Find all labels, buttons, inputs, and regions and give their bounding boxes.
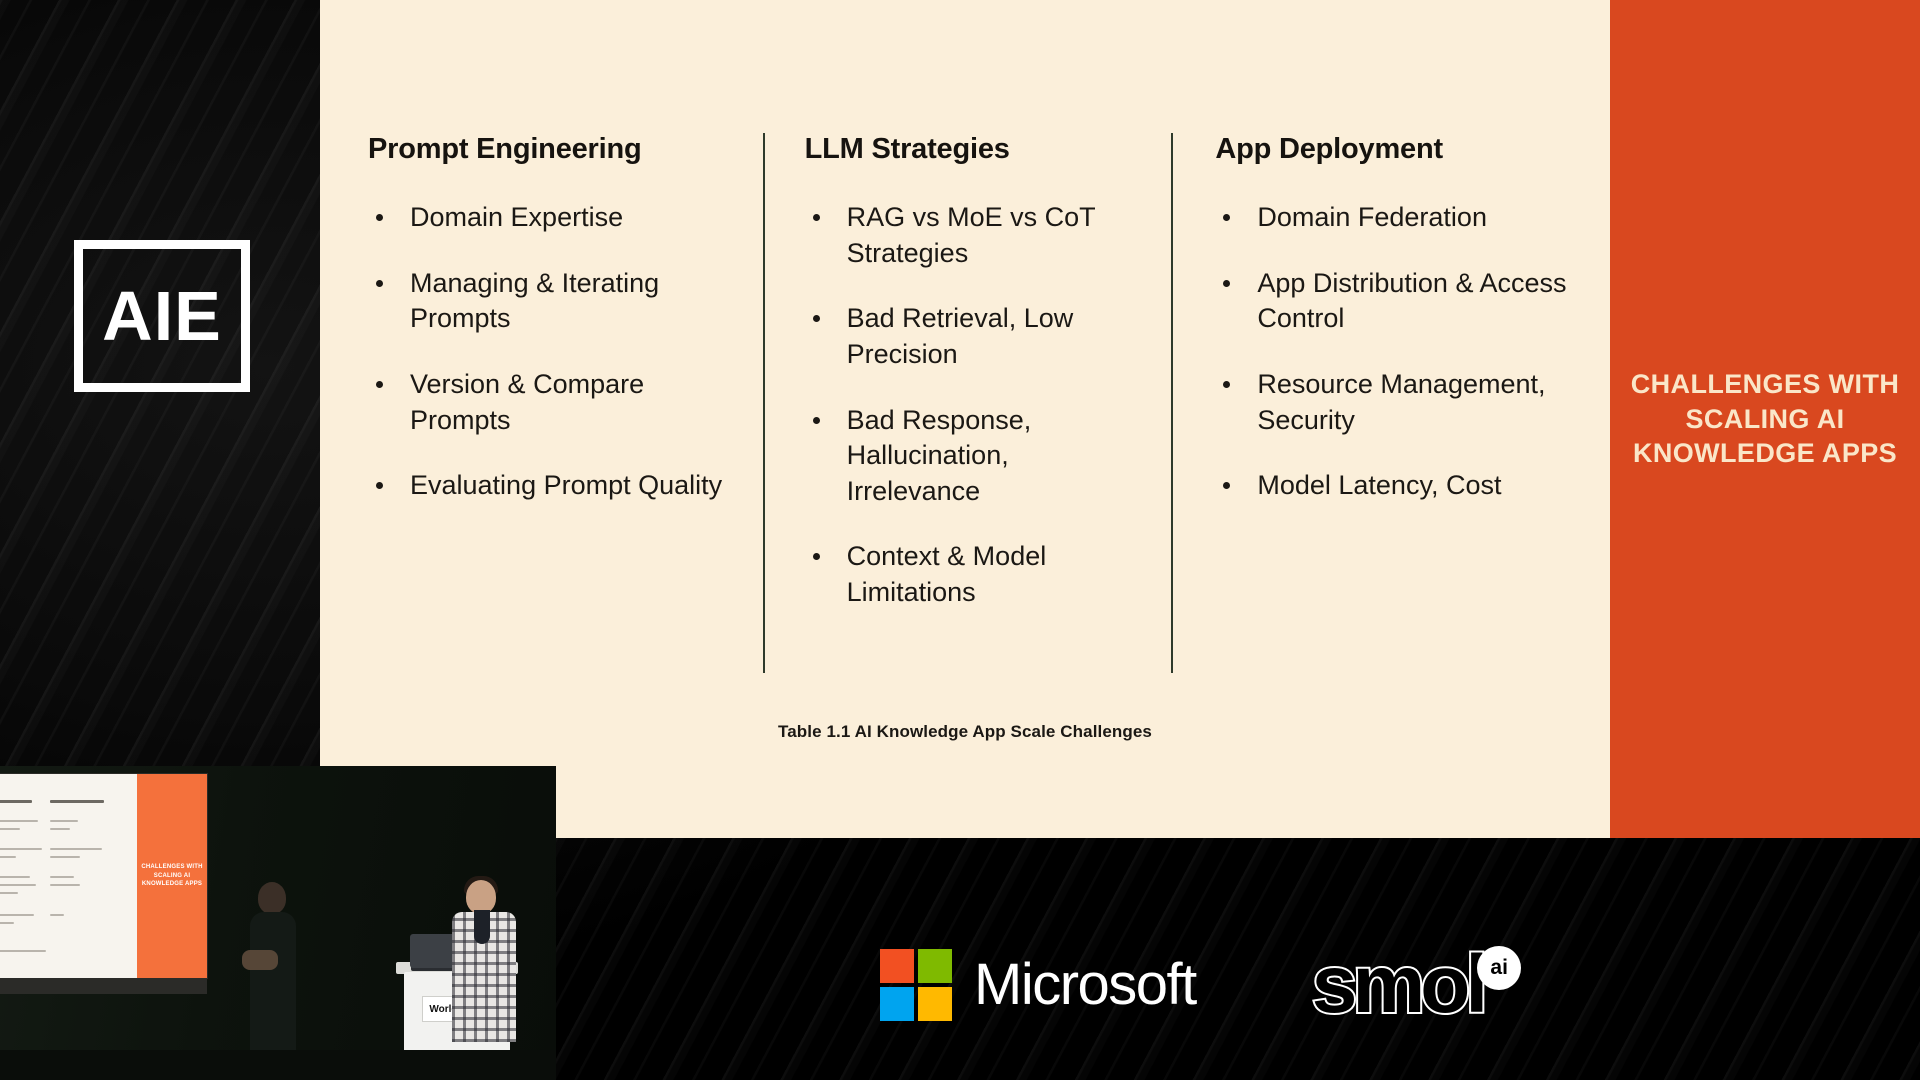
list-item: Model Latency, Cost — [1215, 468, 1568, 504]
slide-accent-panel: CHALLENGES WITH SCALING AI KNOWLEDGE APP… — [1610, 0, 1920, 838]
projected-text-line — [0, 848, 42, 850]
projected-text-line — [0, 884, 36, 886]
list-item: RAG vs MoE vs CoT Strategies — [805, 200, 1146, 271]
table-caption: Table 1.1 AI Knowledge App Scale Challen… — [320, 722, 1610, 742]
projected-text-line — [50, 828, 70, 830]
projection-screen-base — [0, 978, 207, 994]
projected-accent-panel: CHALLENGES WITH SCALING AI KNOWLEDGE APP… — [137, 774, 207, 978]
projected-text-line — [0, 914, 34, 916]
microsoft-square-green — [918, 949, 952, 983]
speaker-video-inset: CHALLENGES WITH SCALING AI KNOWLEDGE APP… — [0, 766, 556, 1080]
aie-logo: AIE — [74, 240, 250, 392]
microsoft-square-red — [880, 949, 914, 983]
list-item: Domain Expertise — [368, 200, 733, 236]
projected-text-line — [0, 876, 30, 878]
projected-text-line — [50, 856, 80, 858]
list-item: Domain Federation — [1215, 200, 1568, 236]
projected-text-line — [50, 876, 74, 878]
smol-wordmark: smol — [1312, 944, 1483, 1026]
list-item: Bad Response, Hallucination, Irrelevance — [805, 403, 1146, 510]
list-item: Context & Model Limitations — [805, 539, 1146, 610]
table-column-llm-strategies: LLM Strategies RAG vs MoE vs CoT Strateg… — [765, 133, 1172, 673]
microsoft-logo: Microsoft — [880, 949, 1196, 1021]
smol-ai-logo: smol ai — [1312, 944, 1521, 1026]
column-title: LLM Strategies — [805, 133, 1146, 166]
projected-caption-line — [0, 950, 46, 952]
stage-floor — [0, 1050, 556, 1080]
bullet-list: RAG vs MoE vs CoT Strategies Bad Retriev… — [805, 200, 1146, 611]
list-item: Evaluating Prompt Quality — [368, 468, 733, 504]
projected-text-line — [50, 914, 64, 916]
speaker-collar — [474, 910, 490, 944]
presentation-slide: Prompt Engineering Domain Expertise Mana… — [320, 0, 1920, 838]
aie-logo-text: AIE — [102, 281, 222, 351]
projected-slide: CHALLENGES WITH SCALING AI KNOWLEDGE APP… — [0, 774, 207, 978]
list-item: Managing & Iterating Prompts — [368, 266, 733, 337]
projected-panel-title: CHALLENGES WITH SCALING AI KNOWLEDGE APP… — [137, 863, 207, 889]
smol-ai-badge: ai — [1477, 946, 1521, 990]
list-item: App Distribution & Access Control — [1215, 266, 1568, 337]
microsoft-square-yellow — [918, 987, 952, 1021]
bullet-list: Domain Expertise Managing & Iterating Pr… — [368, 200, 733, 504]
challenges-table: Prompt Engineering Domain Expertise Mana… — [368, 133, 1568, 673]
projected-text-line — [0, 828, 20, 830]
projected-text-line — [50, 884, 80, 886]
list-item: Resource Management, Security — [1215, 367, 1568, 438]
microsoft-square-blue — [880, 987, 914, 1021]
projected-text-line — [50, 820, 78, 822]
list-item: Bad Retrieval, Low Precision — [805, 301, 1146, 372]
microsoft-squares-icon — [880, 949, 952, 1021]
speaker-head — [258, 882, 286, 914]
list-item: Version & Compare Prompts — [368, 367, 733, 438]
slide-content-area: Prompt Engineering Domain Expertise Mana… — [320, 0, 1610, 838]
speaker-head — [466, 880, 496, 914]
table-column-prompt-engineering: Prompt Engineering Domain Expertise Mana… — [368, 133, 763, 673]
projected-text-line — [0, 892, 18, 894]
projected-text-line — [0, 800, 32, 803]
projected-text-line — [0, 820, 38, 822]
projected-text-line — [50, 848, 102, 850]
sponsor-logos: Microsoft smol ai — [880, 925, 1700, 1045]
column-title: App Deployment — [1215, 133, 1568, 166]
microsoft-wordmark: Microsoft — [974, 956, 1196, 1014]
bullet-list: Domain Federation App Distribution & Acc… — [1215, 200, 1568, 504]
projected-text-line — [50, 800, 104, 803]
slide-panel-title: CHALLENGES WITH SCALING AI KNOWLEDGE APP… — [1610, 367, 1920, 471]
column-title: Prompt Engineering — [368, 133, 733, 166]
table-column-app-deployment: App Deployment Domain Federation App Dis… — [1173, 133, 1568, 673]
projected-text-line — [0, 856, 16, 858]
speaker-hands — [242, 950, 278, 970]
projected-text-line — [0, 922, 14, 924]
